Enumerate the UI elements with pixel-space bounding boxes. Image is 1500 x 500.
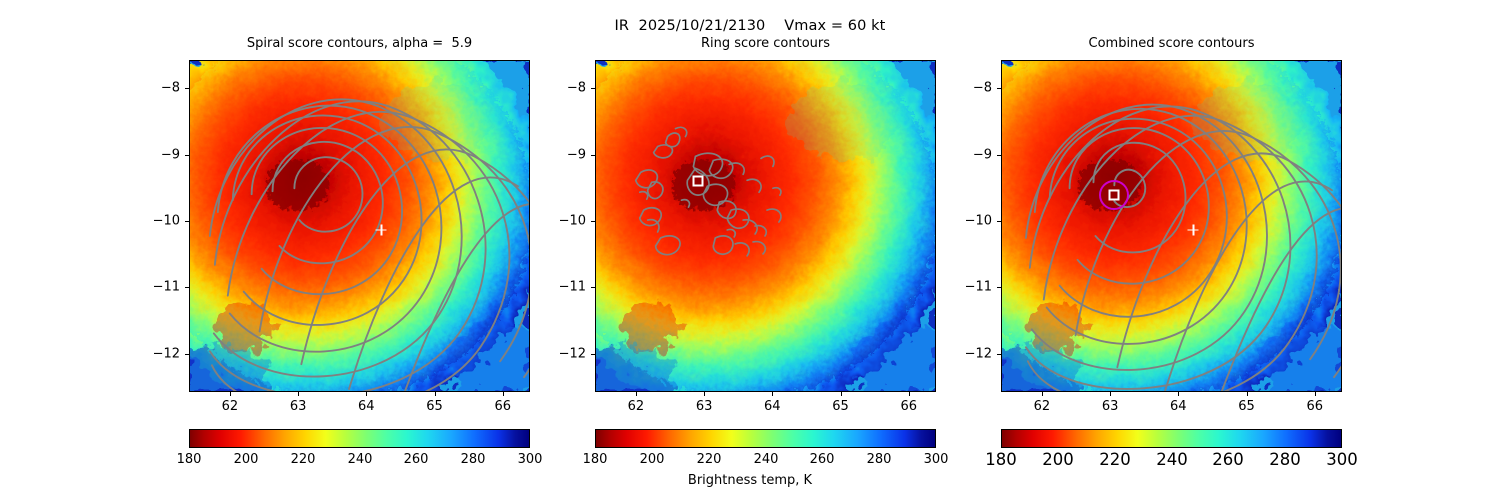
ytick-mark xyxy=(591,354,595,355)
xtick-label: 66 xyxy=(1306,399,1323,414)
ytick-label: −12 xyxy=(965,346,992,361)
ytick-label: −10 xyxy=(153,214,180,229)
ytick-mark xyxy=(997,354,1001,355)
colorbar-tick-label: 280 xyxy=(867,452,892,467)
colorbar-right xyxy=(1001,429,1342,448)
ytick-mark xyxy=(185,221,189,222)
xtick-mark xyxy=(1247,392,1248,396)
colorbar-tick-label: 260 xyxy=(404,452,429,467)
colorbar-tick-label: 300 xyxy=(924,452,949,467)
xtick-label: 63 xyxy=(290,399,307,414)
colorbar-tick-label: 220 xyxy=(1099,450,1131,469)
ring-contours-overlay xyxy=(596,61,935,391)
panel-spiral: Spiral score contours, alpha = 5.9 xyxy=(189,60,530,392)
ytick-mark xyxy=(997,88,1001,89)
ytick-label: −11 xyxy=(153,280,180,295)
xtick-label: 63 xyxy=(1102,399,1119,414)
xtick-mark xyxy=(366,392,367,396)
xtick-label: 65 xyxy=(1238,399,1255,414)
colorbar-tick-label: 300 xyxy=(1326,450,1358,469)
xtick-label: 65 xyxy=(832,399,849,414)
ytick-label: −8 xyxy=(567,81,586,96)
ytick-mark xyxy=(997,287,1001,288)
center-plus-marker-spiral xyxy=(376,224,387,235)
ytick-label: −10 xyxy=(559,214,586,229)
xtick-mark xyxy=(503,392,504,396)
panel-combined: Combined score contours xyxy=(1001,60,1342,392)
colorbar-tick-label: 240 xyxy=(348,452,373,467)
ytick-label: −9 xyxy=(973,147,992,162)
ytick-label: −8 xyxy=(161,81,180,96)
ring-center-square-marker xyxy=(693,176,704,187)
colorbar-tick-label: 280 xyxy=(461,452,486,467)
xtick-mark xyxy=(1315,392,1316,396)
panel-title-ring: Ring score contours xyxy=(535,36,996,51)
panel-ring: Ring score contours xyxy=(595,60,936,392)
xtick-label: 62 xyxy=(222,399,239,414)
ytick-label: −12 xyxy=(153,346,180,361)
colorbar-tick-label: 240 xyxy=(1156,450,1188,469)
panel-title-spiral: Spiral score contours, alpha = 5.9 xyxy=(129,36,590,51)
xtick-mark xyxy=(636,392,637,396)
xtick-mark xyxy=(1042,392,1043,396)
colorbar-left xyxy=(189,429,530,448)
xtick-label: 62 xyxy=(1034,399,1051,414)
colorbar-tick-label: 180 xyxy=(583,452,608,467)
xtick-label: 66 xyxy=(900,399,917,414)
ytick-label: −11 xyxy=(965,280,992,295)
colorbar-tick-label: 220 xyxy=(291,452,316,467)
spiral-contours-overlay xyxy=(190,61,529,391)
panel-title-combined: Combined score contours xyxy=(941,36,1402,51)
xtick-label: 64 xyxy=(358,399,375,414)
ytick-label: −10 xyxy=(965,214,992,229)
colorbar-center xyxy=(595,429,936,448)
xtick-mark xyxy=(298,392,299,396)
xtick-mark xyxy=(1178,392,1179,396)
xtick-label: 63 xyxy=(696,399,713,414)
axes-frame-combined xyxy=(1001,60,1342,392)
ytick-label: −9 xyxy=(567,147,586,162)
xtick-mark xyxy=(772,392,773,396)
colorbar-tick-label: 200 xyxy=(234,452,259,467)
ytick-mark xyxy=(185,354,189,355)
axes-frame-spiral xyxy=(189,60,530,392)
ytick-mark xyxy=(591,221,595,222)
xtick-mark xyxy=(230,392,231,396)
colorbar-tick-label: 260 xyxy=(1212,450,1244,469)
combined-contours-overlay xyxy=(1002,61,1341,391)
colorbar-tick-label: 300 xyxy=(518,452,543,467)
ytick-label: −9 xyxy=(161,147,180,162)
ytick-mark xyxy=(591,287,595,288)
xtick-mark xyxy=(909,392,910,396)
xtick-label: 62 xyxy=(628,399,645,414)
colorbar-tick-label: 220 xyxy=(697,452,722,467)
xtick-label: 65 xyxy=(426,399,443,414)
center-plus-marker-combined xyxy=(1188,224,1199,235)
ytick-mark xyxy=(185,155,189,156)
xtick-label: 64 xyxy=(1170,399,1187,414)
ytick-mark xyxy=(997,155,1001,156)
ytick-mark xyxy=(185,88,189,89)
ytick-label: −8 xyxy=(973,81,992,96)
xtick-mark xyxy=(704,392,705,396)
ytick-mark xyxy=(997,221,1001,222)
figure-suptitle: IR 2025/10/21/2130 Vmax = 60 kt xyxy=(0,18,1500,34)
axes-frame-ring xyxy=(595,60,936,392)
xtick-mark xyxy=(841,392,842,396)
figure-canvas: IR 2025/10/21/2130 Vmax = 60 kt Spiral s… xyxy=(0,0,1500,500)
xtick-mark xyxy=(1110,392,1111,396)
colorbar-tick-label: 180 xyxy=(177,452,202,467)
colorbar-tick-label: 200 xyxy=(1042,450,1074,469)
ytick-label: −12 xyxy=(559,346,586,361)
ytick-mark xyxy=(185,287,189,288)
colorbar-tick-label: 240 xyxy=(754,452,779,467)
ytick-mark xyxy=(591,88,595,89)
colorbar-tick-label: 260 xyxy=(810,452,835,467)
colorbar-tick-label: 180 xyxy=(985,450,1017,469)
colorbar-tick-label: 200 xyxy=(640,452,665,467)
colorbar-tick-label: 280 xyxy=(1269,450,1301,469)
ytick-mark xyxy=(591,155,595,156)
xtick-mark xyxy=(435,392,436,396)
xtick-label: 64 xyxy=(764,399,781,414)
xtick-label: 66 xyxy=(494,399,511,414)
ring-center-square-marker xyxy=(1108,189,1119,200)
colorbar-axis-label: Brightness temp, K xyxy=(0,473,1500,488)
ytick-label: −11 xyxy=(559,280,586,295)
